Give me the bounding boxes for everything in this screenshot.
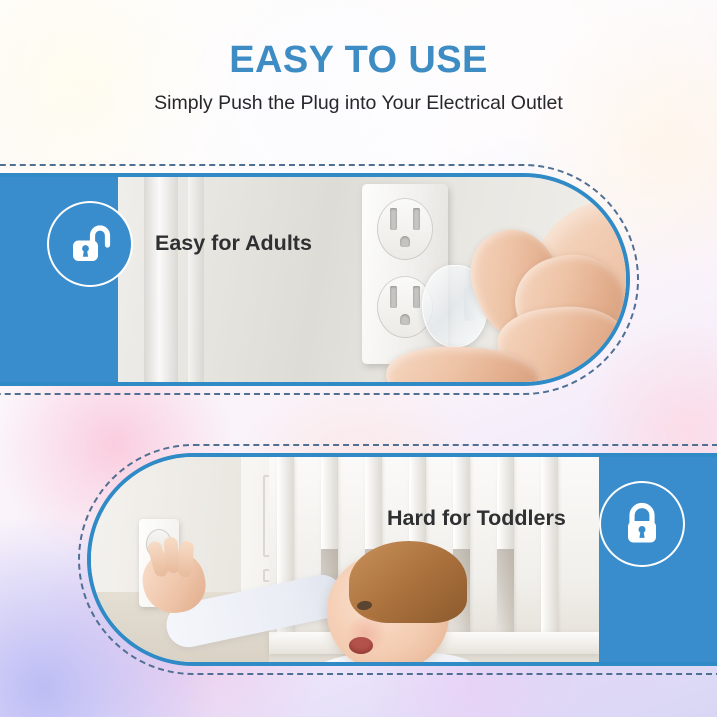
toddler-mouth <box>349 637 373 654</box>
page-title: EASY TO USE <box>0 41 717 79</box>
socket-slot-ground <box>400 236 410 247</box>
toddler-hair <box>349 541 467 623</box>
toddler-finger <box>178 541 194 578</box>
page-subtitle: Simply Push the Plug into Your Electrica… <box>0 94 717 114</box>
socket-slot-right <box>413 208 420 230</box>
header: EASY TO USE Simply Push the Plug into Yo… <box>0 0 717 114</box>
panel-photo-toddler <box>91 457 599 662</box>
socket-slot-left <box>390 286 397 308</box>
panel-photo-adult-hand <box>118 177 626 382</box>
socket-slot-right <box>413 286 420 308</box>
crib-slat <box>541 457 558 637</box>
panel-label-hard-for-toddlers: Hard for Toddlers <box>387 508 566 530</box>
outlet-socket-top <box>377 198 433 260</box>
wall-edge <box>144 177 178 382</box>
photo-scene <box>118 177 626 382</box>
socket-slot-ground <box>400 314 410 325</box>
wall-trim <box>188 177 204 382</box>
crib-slat-shadow <box>497 549 514 637</box>
socket-slot-left <box>390 208 397 230</box>
photo-scene <box>91 457 599 662</box>
locked-padlock-icon <box>601 483 683 565</box>
panel-label-easy-for-adults: Easy for Adults <box>155 233 312 255</box>
unlocked-padlock-icon <box>49 203 131 285</box>
